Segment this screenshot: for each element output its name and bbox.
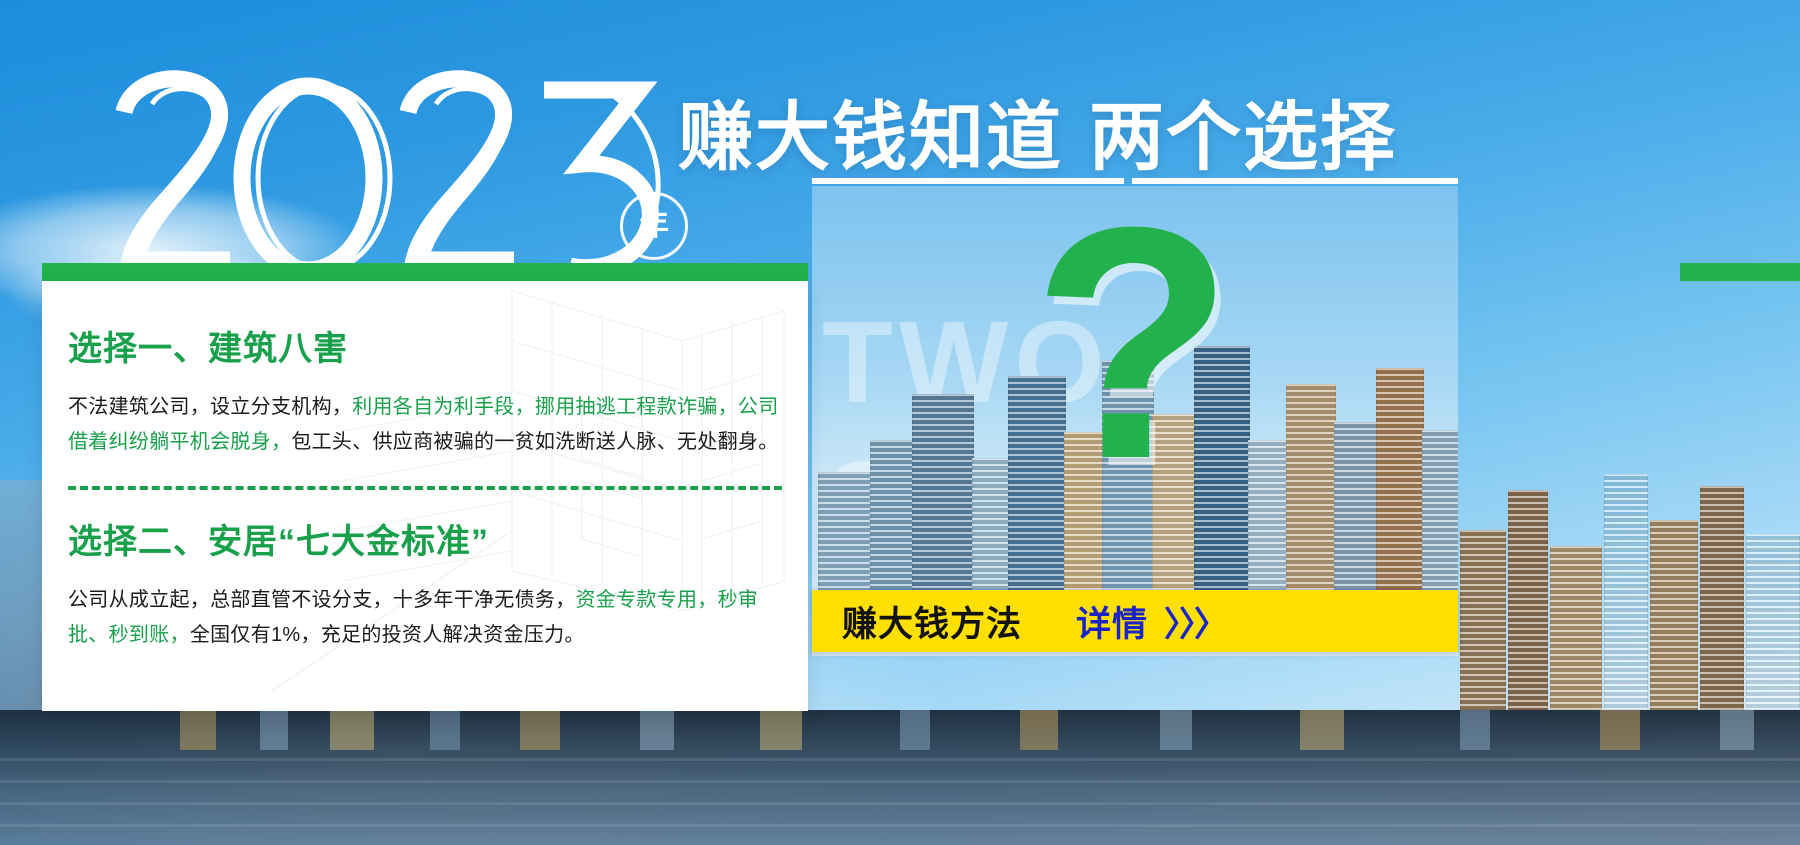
page-title: 赚大钱知道两个选择 [678,76,1397,185]
city-photo-panel: TWO CHOICES ? [812,186,1458,656]
content-card: 选择一、建筑八害 不法建筑公司，设立分支机构，利用各自为利手段，挪用抽逃工程款诈… [42,281,808,711]
headline-rule [812,178,1458,184]
year-unit-label: 年 [639,211,669,241]
card-top-accent-bar [42,263,808,281]
rule-segment-right [1132,178,1458,184]
edge-skyline [1460,450,1800,710]
left-edge-structure [0,480,46,710]
water-reflection-strip [0,710,1800,845]
body-run: 全国仅有1%，充足的投资人解决资金压力。 [190,624,585,646]
promo-banner: 年 赚大钱知道两个选择 TWO CHOICES ? [0,0,1800,845]
headline-part-2: 两个选择 [1089,95,1397,179]
section-title-two: 选择二、安居“七大金标准” [68,514,782,563]
green-accent-tab [1680,263,1800,281]
question-mark-icon: ? [1032,186,1234,508]
body-run: 公司从成立起，总部直管不设分支，十多年干净无债务， [68,589,576,611]
water-lights [0,710,1800,750]
card-body: 选择一、建筑八害 不法建筑公司，设立分支机构，利用各自为利手段，挪用抽逃工程款诈… [42,281,808,653]
section-divider [68,486,782,490]
cta-main-label: 赚大钱方法 [842,596,1022,647]
section-body-one: 不法建筑公司，设立分支机构，利用各自为利手段，挪用抽逃工程款诈骗，公司借着纠纷躺… [68,390,782,460]
rule-segment-left [812,178,1124,184]
section-body-two: 公司从成立起，总部直管不设分支，十多年干净无债务，资金专款专用，秒审批、秒到账，… [68,583,782,653]
body-run: 不法建筑公司，设立分支机构， [68,396,352,418]
year-unit-badge: 年 [620,192,688,260]
headline-part-1: 赚大钱知道 [678,95,1063,179]
section-title-one: 选择一、建筑八害 [68,321,782,370]
cta-button[interactable]: 赚大钱方法 详情 〉〉〉 [812,590,1458,652]
chevron-right-icon: 〉〉〉 [1164,597,1226,646]
cta-detail-label: 详情 [1076,596,1148,647]
body-run: 包工头、供应商被骗的一贫如洗断送人脉、无处翻身。 [291,431,778,453]
